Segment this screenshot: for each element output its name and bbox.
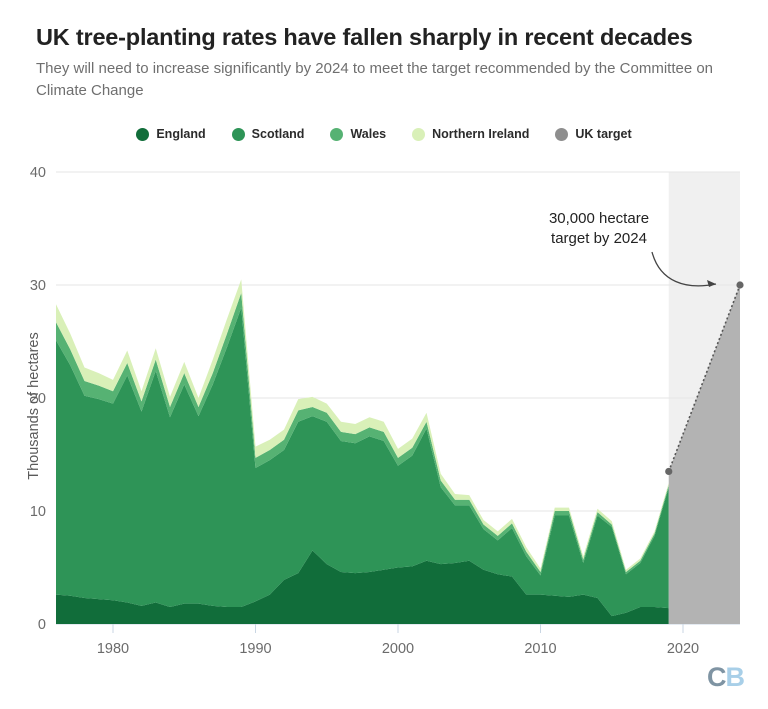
y-tick-label: 30 [30, 278, 46, 294]
logo-letter-c: C [707, 662, 726, 692]
chart-plot-area: 01020304019801990200020102020 [0, 0, 768, 709]
x-tick-label: 2020 [667, 641, 699, 657]
x-tick-label: 2010 [524, 641, 556, 657]
logo-letter-b: B [726, 662, 745, 692]
annotation-line-2: target by 2024 [520, 229, 678, 249]
x-tick-label: 2000 [382, 641, 414, 657]
projection-point-marker [665, 468, 672, 475]
area-chart-svg: 01020304019801990200020102020 [0, 0, 768, 709]
y-axis-label: Thousands of hectares [26, 296, 42, 516]
x-tick-label: 1990 [239, 641, 271, 657]
x-tick-label: 1980 [97, 641, 129, 657]
projection-point-marker [736, 281, 743, 288]
y-tick-label: 40 [30, 165, 46, 181]
chart-page: UK tree-planting rates have fallen sharp… [0, 0, 768, 709]
annotation-line-1: 30,000 hectare [520, 209, 678, 229]
y-tick-label: 0 [38, 617, 46, 633]
area-series-scotland [56, 308, 669, 616]
target-annotation: 30,000 hectare target by 2024 [520, 209, 678, 250]
carbon-brief-logo: CB [707, 662, 744, 693]
